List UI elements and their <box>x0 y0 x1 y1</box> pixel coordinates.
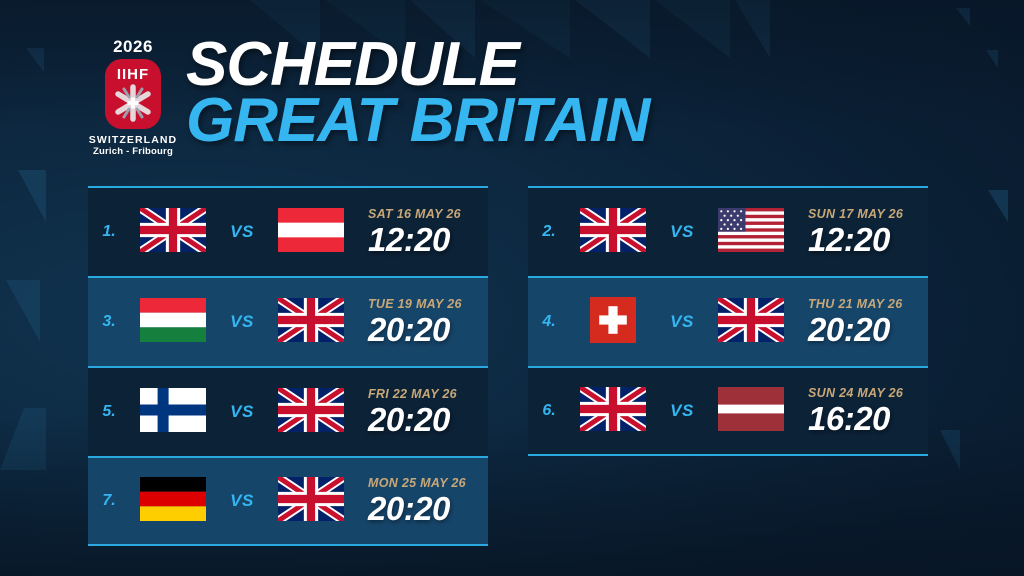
match-number: 1. <box>88 223 130 241</box>
versus-label: VS <box>656 401 708 421</box>
match-number: 6. <box>528 402 570 420</box>
versus-label: VS <box>216 222 268 242</box>
match-number: 2. <box>528 223 570 241</box>
iihf-shield-snowflake-icon: IIHF <box>102 57 164 131</box>
flag-gb-icon <box>278 477 344 526</box>
flag-gb-icon <box>278 388 344 437</box>
match-time: 20:20 <box>368 492 488 526</box>
flag-fi-icon <box>140 388 206 437</box>
flag-us-icon <box>718 208 784 257</box>
match-datetime: FRI 22 MAY 26 20:20 <box>354 388 488 436</box>
match-number: 7. <box>88 492 130 510</box>
match-datetime: SAT 16 MAY 26 12:20 <box>354 208 488 256</box>
home-team-flag <box>130 388 216 437</box>
match-datetime: MON 25 MAY 26 20:20 <box>354 477 488 525</box>
logo-year: 2026 <box>78 38 188 55</box>
away-team-flag <box>268 298 354 347</box>
logo-cities: Zurich - Fribourg <box>78 146 188 157</box>
match-number: 3. <box>88 313 130 331</box>
away-team-flag <box>708 387 794 436</box>
match-row[interactable]: 7. VS MON 25 MAY 26 20:20 <box>88 456 488 546</box>
match-time: 12:20 <box>368 223 488 257</box>
title-team: GREAT BRITAIN <box>186 92 649 150</box>
match-time: 20:20 <box>368 403 488 437</box>
versus-label: VS <box>216 312 268 332</box>
match-row[interactable]: 3. VS TUE 19 MAY 26 20:20 <box>88 276 488 366</box>
match-row[interactable]: 5. VS FRI 22 MAY 26 20:20 <box>88 366 488 456</box>
svg-text:IIHF: IIHF <box>117 66 149 83</box>
away-team-flag <box>708 208 794 257</box>
versus-label: VS <box>656 222 708 242</box>
logo-country: SWITZERLAND <box>78 134 188 146</box>
away-team-flag <box>708 298 794 347</box>
away-team-flag <box>268 208 354 257</box>
match-time: 20:20 <box>808 313 928 347</box>
match-date: TUE 19 MAY 26 <box>368 298 488 312</box>
match-date: SUN 17 MAY 26 <box>808 208 928 222</box>
versus-label: VS <box>216 402 268 422</box>
match-row[interactable]: 1. VS SAT 16 MAY 26 12:20 <box>88 186 488 276</box>
event-logo: 2026 IIHF <box>78 38 188 157</box>
versus-label: VS <box>656 312 708 332</box>
home-team-flag <box>570 297 656 348</box>
away-team-flag <box>268 388 354 437</box>
match-row[interactable]: 4. VS THU 21 MAY 26 20:20 <box>528 276 928 366</box>
flag-gb-icon <box>580 208 646 257</box>
flag-ch-icon <box>590 297 636 348</box>
match-row[interactable]: 2. VS <box>528 186 928 276</box>
flag-gb-icon <box>580 387 646 436</box>
flag-hu-icon <box>140 298 206 347</box>
match-time: 20:20 <box>368 313 488 347</box>
match-row[interactable]: 6. VS SUN 24 MAY 26 16:20 <box>528 366 928 456</box>
header: 2026 IIHF <box>0 0 1024 180</box>
flag-gb-icon <box>140 208 206 257</box>
match-datetime: SUN 17 MAY 26 12:20 <box>794 208 928 256</box>
match-date: SUN 24 MAY 26 <box>808 387 928 401</box>
match-date: SAT 16 MAY 26 <box>368 208 488 222</box>
match-date: MON 25 MAY 26 <box>368 477 488 491</box>
flag-gb-icon <box>278 298 344 347</box>
match-time: 12:20 <box>808 223 928 257</box>
flag-de-icon <box>140 477 206 526</box>
match-datetime: TUE 19 MAY 26 20:20 <box>354 298 488 346</box>
versus-label: VS <box>216 491 268 511</box>
match-number: 4. <box>528 313 570 331</box>
schedule-column-left: 1. VS SAT 16 MAY 26 12:20 3. <box>88 186 488 546</box>
flag-at-icon <box>278 208 344 257</box>
match-date: FRI 22 MAY 26 <box>368 388 488 402</box>
match-number: 5. <box>88 403 130 421</box>
flag-lv-icon <box>718 387 784 436</box>
page-title: SCHEDULE GREAT BRITAIN <box>186 36 649 151</box>
schedule-column-right: 2. VS <box>528 186 928 456</box>
flag-gb-icon <box>718 298 784 347</box>
away-team-flag <box>268 477 354 526</box>
match-datetime: THU 21 MAY 26 20:20 <box>794 298 928 346</box>
home-team-flag <box>130 298 216 347</box>
home-team-flag <box>130 477 216 526</box>
match-time: 16:20 <box>808 402 928 436</box>
match-datetime: SUN 24 MAY 26 16:20 <box>794 387 928 435</box>
home-team-flag <box>130 208 216 257</box>
match-date: THU 21 MAY 26 <box>808 298 928 312</box>
home-team-flag <box>570 387 656 436</box>
home-team-flag <box>570 208 656 257</box>
